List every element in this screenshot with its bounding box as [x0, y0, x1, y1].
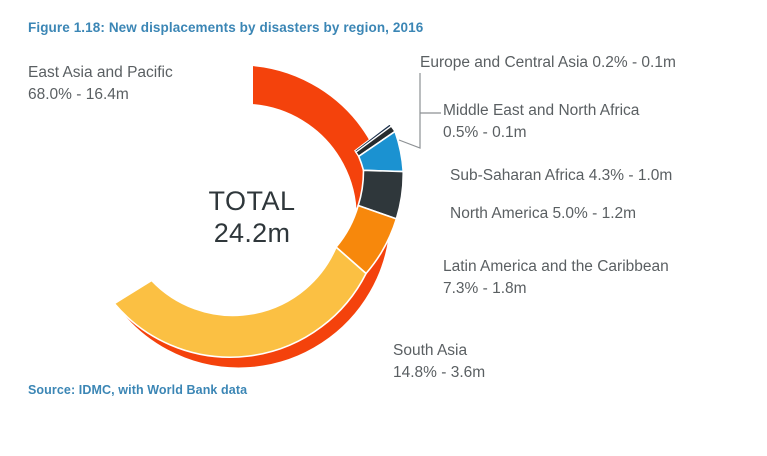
label-south-asia: South Asia 14.8% - 3.6m: [393, 340, 485, 384]
label-east-asia-and-pacific: East Asia and Pacific 68.0% - 16.4m: [28, 62, 173, 106]
leader-lines: [399, 73, 441, 148]
label-sub-saharan-line1: Sub-Saharan Africa 4.3% - 1.0m: [450, 167, 672, 184]
label-latin-america-line2: 7.3% - 1.8m: [443, 278, 669, 300]
label-south-asia-line2: 14.8% - 3.6m: [393, 362, 485, 384]
figure-source: Source: IDMC, with World Bank data: [28, 383, 247, 397]
leader-line-europe: [399, 73, 420, 148]
label-north-america: North America 5.0% - 1.2m: [450, 203, 636, 225]
figure-container: Figure 1.18: New displacements by disast…: [0, 0, 767, 456]
donut-segments: [114, 65, 403, 368]
label-europe-line1: Europe and Central Asia 0.2% - 0.1m: [420, 54, 676, 71]
label-east-asia-line1: East Asia and Pacific: [28, 64, 173, 81]
label-middle-east-line1: Middle East and North Africa: [443, 102, 639, 119]
label-latin-america-line1: Latin America and the Caribbean: [443, 258, 669, 275]
label-north-america-line1: North America 5.0% - 1.2m: [450, 205, 636, 222]
label-middle-east-and-north-africa: Middle East and North Africa 0.5% - 0.1m: [443, 100, 639, 144]
label-europe-and-central-asia: Europe and Central Asia 0.2% - 0.1m: [420, 52, 676, 74]
label-sub-saharan-africa: Sub-Saharan Africa 4.3% - 1.0m: [450, 165, 672, 187]
label-latin-america-and-the-caribbean: Latin America and the Caribbean 7.3% - 1…: [443, 256, 669, 300]
label-east-asia-line2: 68.0% - 16.4m: [28, 84, 173, 106]
label-south-asia-line1: South Asia: [393, 342, 467, 359]
label-middle-east-line2: 0.5% - 0.1m: [443, 122, 639, 144]
